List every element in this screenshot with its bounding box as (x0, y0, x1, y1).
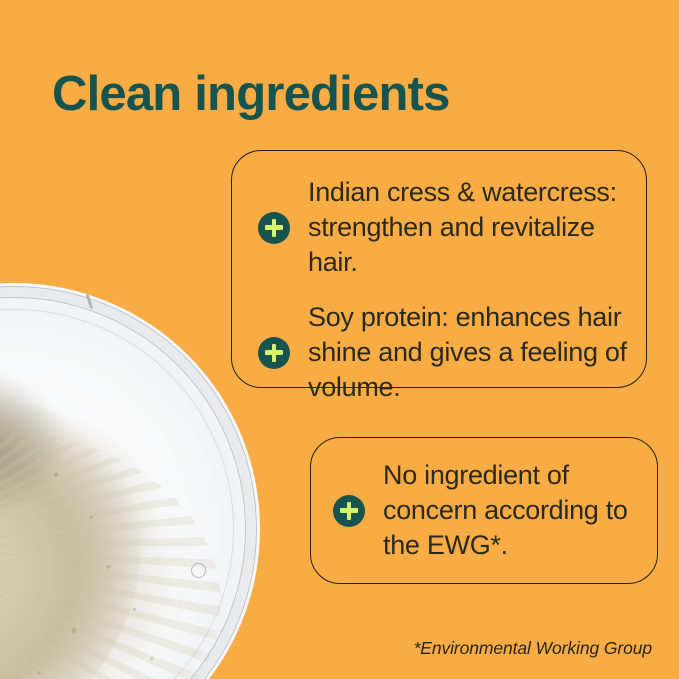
ingredients-card: Indian cress & watercress: strengthen an… (231, 150, 647, 388)
petri-dish-photo (0, 283, 260, 679)
footnote: *Environmental Working Group (414, 637, 652, 659)
promo-graphic: Clean ingredients Indian cress & watercr… (0, 0, 679, 679)
ewg-card: No ingredient of concern according to th… (310, 437, 658, 584)
list-item: Soy protein: enhances hair shine and giv… (258, 300, 628, 405)
dish-outer-rim (0, 283, 260, 679)
plus-icon (258, 212, 290, 244)
plus-icon (258, 337, 290, 369)
list-item: No ingredient of concern according to th… (333, 458, 639, 563)
list-item-label: Indian cress & watercress: strengthen an… (308, 175, 628, 280)
list-item-label: No ingredient of concern according to th… (383, 458, 639, 563)
plus-icon (333, 495, 365, 527)
list-item-label: Soy protein: enhances hair shine and giv… (308, 300, 628, 405)
list-item: Indian cress & watercress: strengthen an… (258, 175, 628, 280)
page-title: Clean ingredients (52, 66, 450, 123)
